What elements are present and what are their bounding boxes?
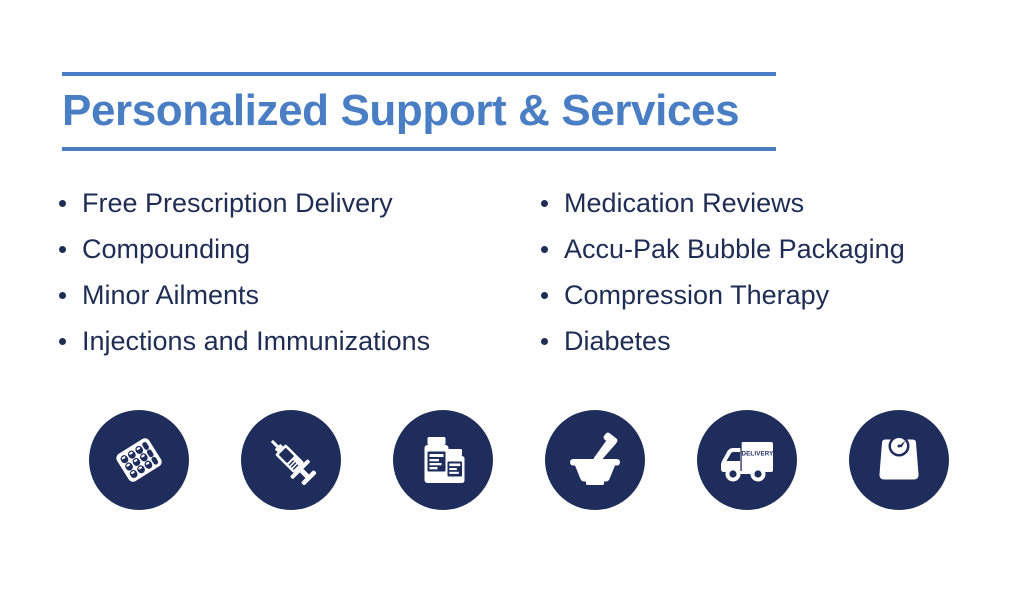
blister-pack-icon xyxy=(109,430,169,490)
page-title: Personalized Support & Services xyxy=(62,76,776,147)
services-left-column: Free Prescription Delivery Compounding M… xyxy=(52,180,534,364)
icon-badge-weight-scale xyxy=(849,410,949,510)
page-header: Personalized Support & Services xyxy=(62,72,776,151)
list-item: Accu-Pak Bubble Packaging xyxy=(534,226,1004,272)
icon-badge-syringe xyxy=(241,410,341,510)
list-item: Compounding xyxy=(52,226,534,272)
icon-badge-blister-pack xyxy=(89,410,189,510)
list-item: Minor Ailments xyxy=(52,272,534,318)
icon-badge-delivery-truck: DELIVERY xyxy=(697,410,797,510)
svg-text:DELIVERY: DELIVERY xyxy=(742,451,775,458)
services-columns: Free Prescription Delivery Compounding M… xyxy=(52,180,1012,364)
pill-bottles-icon xyxy=(413,430,473,490)
services-right-column: Medication Reviews Accu-Pak Bubble Packa… xyxy=(534,180,1004,364)
list-item: Free Prescription Delivery xyxy=(52,180,534,226)
service-icon-row: DELIVERY xyxy=(89,410,949,510)
truck-label: DELIVERY xyxy=(742,451,775,458)
services-list-right: Medication Reviews Accu-Pak Bubble Packa… xyxy=(534,180,1004,364)
title-rule-bottom xyxy=(62,147,776,151)
list-item: Injections and Immunizations xyxy=(52,318,534,364)
weight-scale-icon xyxy=(870,431,928,489)
list-item: Medication Reviews xyxy=(534,180,1004,226)
syringe-icon xyxy=(261,430,321,490)
icon-badge-pill-bottles xyxy=(393,410,493,510)
list-item: Diabetes xyxy=(534,318,1004,364)
delivery-truck-icon: DELIVERY xyxy=(715,428,779,492)
icon-badge-mortar-pestle xyxy=(545,410,645,510)
mortar-and-pestle-icon xyxy=(564,429,626,491)
services-list-left: Free Prescription Delivery Compounding M… xyxy=(52,180,534,364)
list-item: Compression Therapy xyxy=(534,272,1004,318)
